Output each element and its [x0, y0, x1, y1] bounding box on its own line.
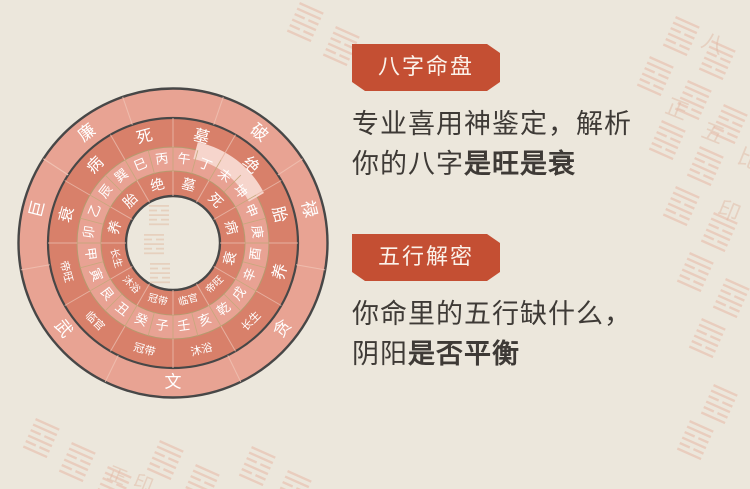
section-wuxing-line-1: 你命里的五行缺什么，	[352, 295, 742, 335]
bazi-chart-svg: 廉破禄贪文武巨死墓绝胎养长生沐浴冠带临官帝旺衰病丙午丁未坤申庚酉辛戌乾亥壬子癸丑…	[14, 84, 332, 402]
line-plain: 你的八字	[352, 149, 464, 180]
svg-text:正: 正	[104, 462, 130, 489]
ring-label: 壬	[177, 318, 192, 335]
ring-label: 酉	[248, 247, 265, 262]
ring-label: 卯	[81, 225, 98, 240]
ring-label: 庚	[248, 224, 266, 239]
badge-wuxing[interactable]: 五行解密	[352, 234, 500, 281]
ring-label: 丙	[155, 151, 170, 168]
line-plain: 专业喜用神鉴定，解析	[352, 109, 632, 140]
line-bold: 是旺是衰	[464, 149, 576, 180]
content-column: 八字命盘 专业喜用神鉴定，解析 你的八字是旺是衰 五行解密 你命里的五行缺什么，…	[352, 0, 742, 489]
ring-label: 子	[155, 318, 170, 335]
svg-text:印: 印	[130, 470, 156, 489]
line-plain: 你命里的五行缺什么，	[352, 299, 632, 330]
section-bazi-lines: 专业喜用神鉴定，解析 你的八字是旺是衰	[352, 105, 742, 185]
line-plain: 阴阳	[352, 339, 408, 370]
ring-label: 午	[177, 151, 192, 168]
section-bazi-line-2: 你的八字是旺是衰	[352, 145, 742, 185]
section-wuxing: 五行解密 你命里的五行缺什么， 阴阳是否平衡	[352, 234, 742, 375]
line-bold: 是否平衡	[408, 339, 520, 370]
ring-label: 甲	[81, 247, 98, 262]
section-wuxing-lines: 你命里的五行缺什么， 阴阳是否平衡	[352, 295, 742, 375]
section-bazi-line-1: 专业喜用神鉴定，解析	[352, 105, 742, 145]
ring-label: 文	[165, 373, 182, 393]
section-wuxing-line-2: 阴阳是否平衡	[352, 335, 742, 375]
bazi-chart: 廉破禄贪文武巨死墓绝胎养长生沐浴冠带临官帝旺衰病丙午丁未坤申庚酉辛戌乾亥壬子癸丑…	[14, 84, 332, 402]
section-bazi: 八字命盘 专业喜用神鉴定，解析 你的八字是旺是衰	[352, 44, 742, 185]
badge-bazi[interactable]: 八字命盘	[352, 44, 500, 91]
